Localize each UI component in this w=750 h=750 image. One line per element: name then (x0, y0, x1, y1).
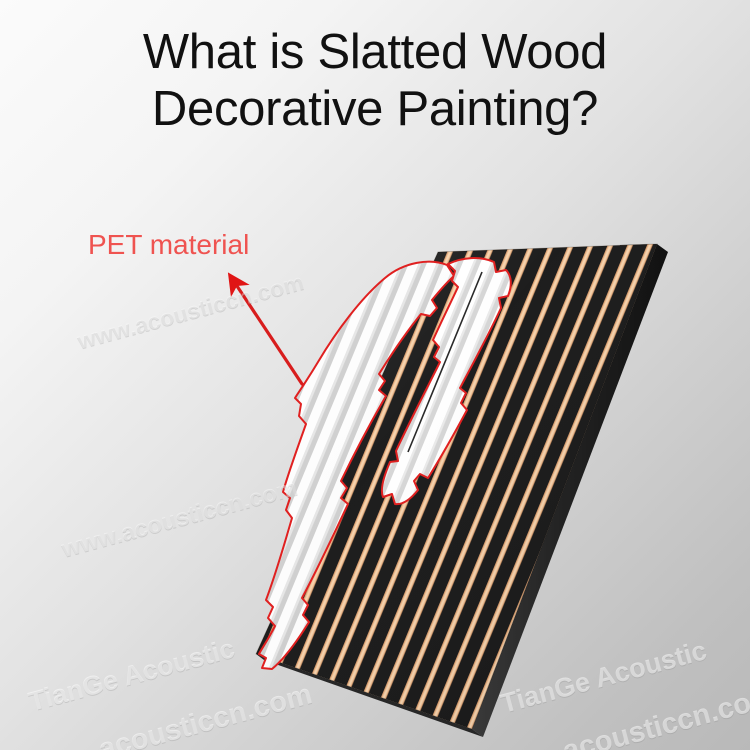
arrow-shaft (231, 277, 302, 384)
product-illustration (0, 0, 750, 750)
pet-callout-arrow (231, 277, 302, 384)
image-canvas: What is Slatted Wood Decorative Painting… (0, 0, 750, 750)
